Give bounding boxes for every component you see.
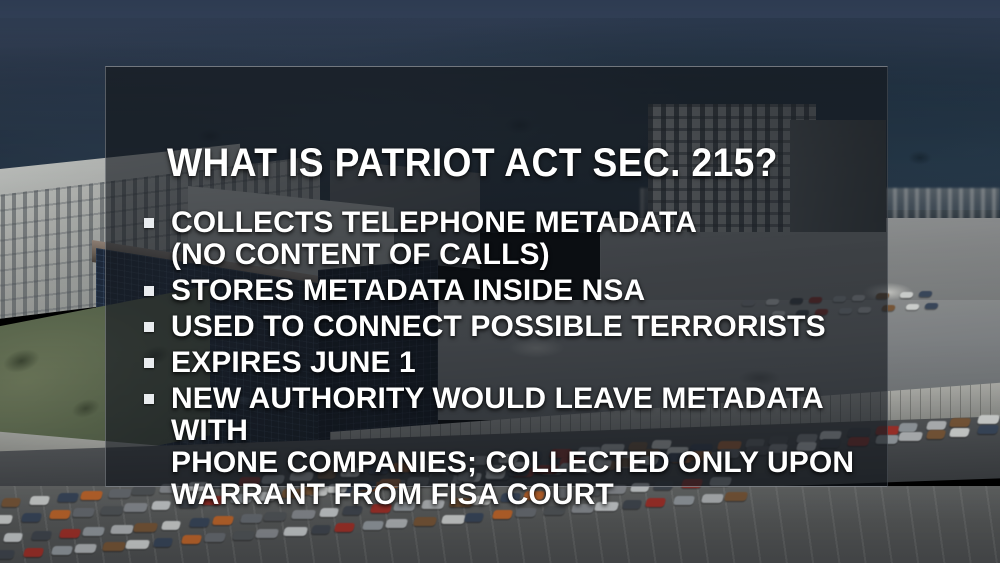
square-bullet-icon bbox=[144, 218, 154, 228]
list-item: COLLECTS TELEPHONE METADATA (NO CONTENT … bbox=[144, 207, 873, 271]
list-item-label: COLLECTS TELEPHONE METADATA (NO CONTENT … bbox=[171, 206, 697, 271]
square-bullet-icon bbox=[144, 358, 154, 368]
fact-bullet-list: COLLECTS TELEPHONE METADATA (NO CONTENT … bbox=[144, 207, 873, 515]
page-title: WHAT IS PATRIOT ACT SEC. 215? bbox=[167, 143, 778, 183]
list-item-label: NEW AUTHORITY WOULD LEAVE METADATA WITH … bbox=[171, 382, 854, 511]
list-item-label: USED TO CONNECT POSSIBLE TERRORISTS bbox=[171, 310, 826, 343]
news-graphic-screen: WHAT IS PATRIOT ACT SEC. 215? COLLECTS T… bbox=[0, 0, 1000, 563]
square-bullet-icon bbox=[144, 286, 154, 296]
list-item: STORES METADATA INSIDE NSA bbox=[144, 275, 873, 307]
square-bullet-icon bbox=[144, 394, 154, 404]
list-item: USED TO CONNECT POSSIBLE TERRORISTS bbox=[144, 311, 873, 343]
list-item: NEW AUTHORITY WOULD LEAVE METADATA WITH … bbox=[144, 383, 873, 511]
list-item: EXPIRES JUNE 1 bbox=[144, 347, 873, 379]
content-overlay-panel: WHAT IS PATRIOT ACT SEC. 215? COLLECTS T… bbox=[105, 66, 888, 487]
list-item-label: STORES METADATA INSIDE NSA bbox=[171, 274, 645, 307]
list-item-label: EXPIRES JUNE 1 bbox=[171, 346, 416, 379]
square-bullet-icon bbox=[144, 322, 154, 332]
